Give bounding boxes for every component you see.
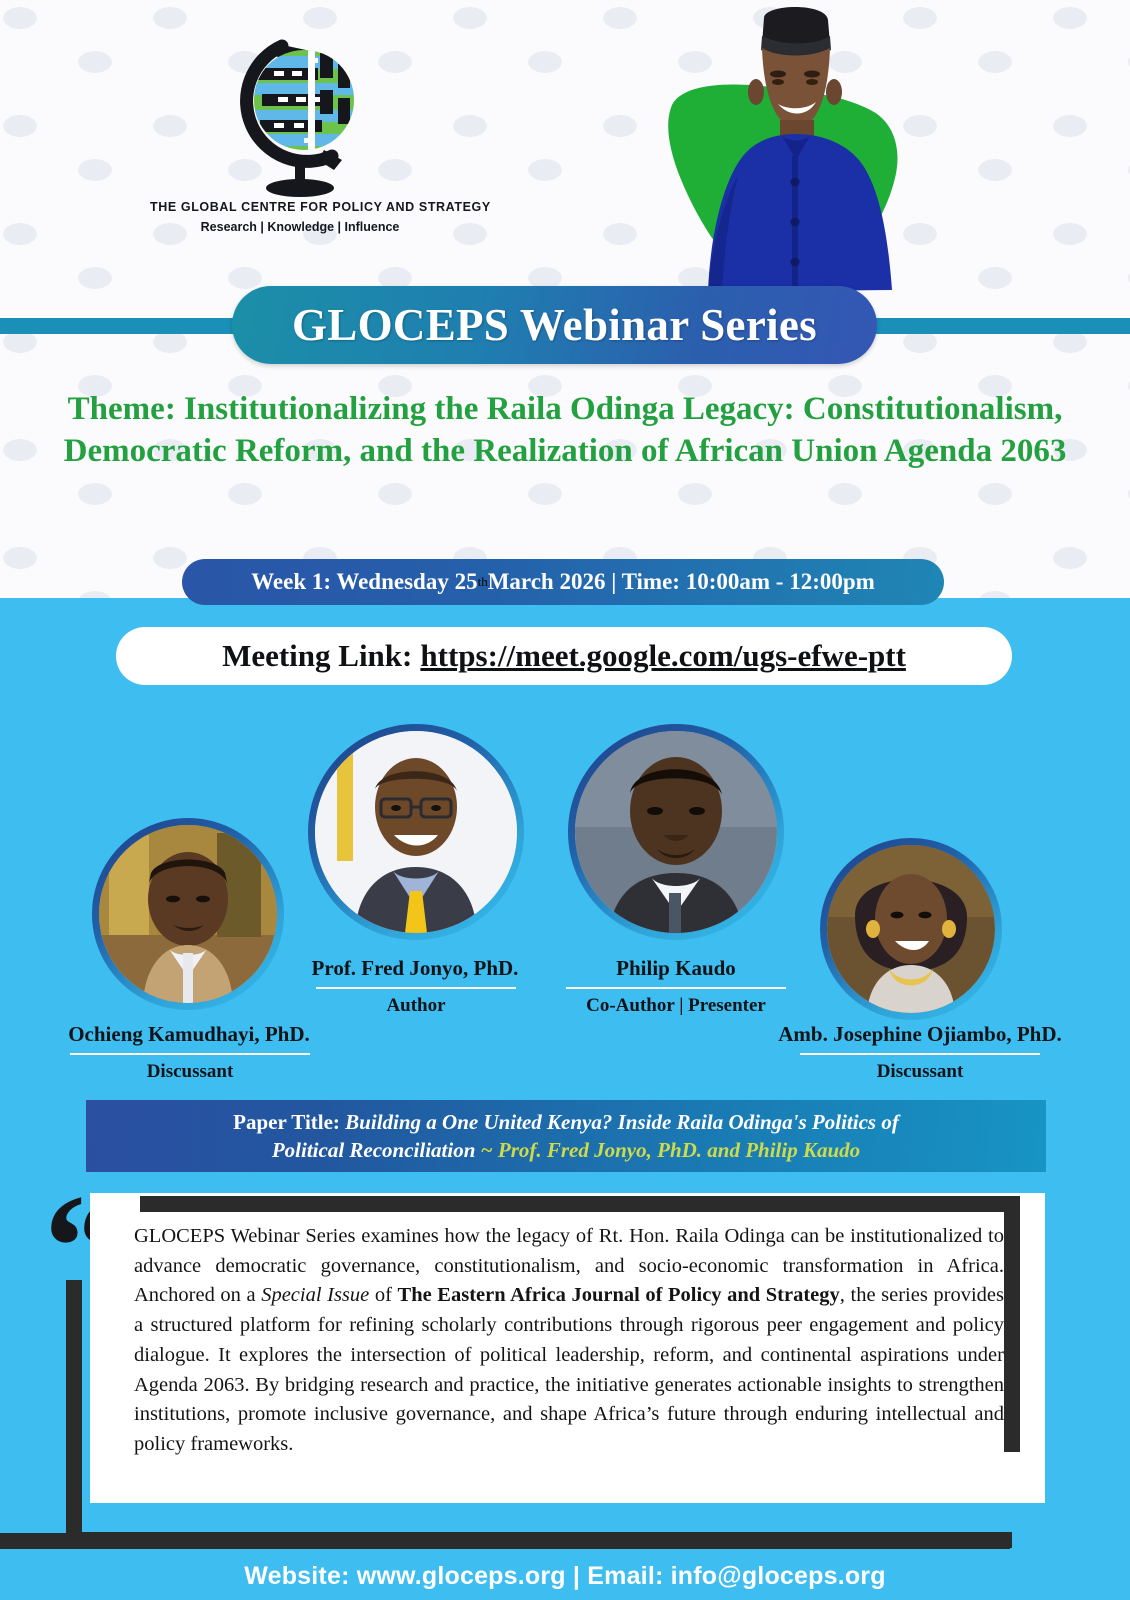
hero-image	[612, 0, 942, 330]
paper-title-line-1: Paper Title: Building a One United Kenya…	[233, 1108, 899, 1136]
speaker-portrait-raila-odinga	[612, 0, 942, 330]
paper-title-text-1: Building a One United Kenya? Inside Rail…	[345, 1110, 899, 1134]
speaker-name-2: Prof. Fred Jonyo, PhD.	[295, 956, 535, 981]
speaker-card-3	[568, 724, 784, 940]
paper-title-label: Paper Title:	[233, 1110, 340, 1134]
footer-contact-text: Website: www.gloceps.org | Email: info@g…	[244, 1562, 885, 1591]
avatar-3	[568, 724, 784, 940]
avatar-2	[308, 724, 524, 940]
meeting-link-card[interactable]: Meeting Link: https://meet.google.com/ug…	[116, 627, 1012, 685]
speaker-role-1: Discussant	[70, 1053, 310, 1083]
footer-bar: Website: www.gloceps.org | Email: info@g…	[0, 1552, 1130, 1600]
paper-title-text-2: Political Reconciliation	[272, 1138, 476, 1162]
avatar-4	[820, 838, 1002, 1020]
meeting-link-url[interactable]: https://meet.google.com/ugs-efwe-ptt	[420, 638, 906, 674]
paper-separator: ~	[481, 1138, 493, 1162]
series-title-banner: GLOCEPS Webinar Series	[232, 286, 877, 364]
footer-divider	[0, 1533, 1010, 1549]
schedule-prefix: Week 1: Wednesday 25	[251, 569, 477, 595]
speaker-name-3: Philip Kaudo	[576, 956, 776, 981]
organization-tagline: Research | Knowledge | Influence	[150, 220, 450, 234]
series-title-text: GLOCEPS Webinar Series	[292, 299, 817, 351]
paper-title-line-2: Political Reconciliation ~ Prof. Fred Jo…	[272, 1136, 860, 1164]
speaker-role-4: Discussant	[800, 1053, 1040, 1083]
schedule-suffix: March 2026 | Time: 10:00am - 12:00pm	[488, 569, 875, 595]
speaker-card-1	[92, 818, 284, 1010]
abstract-part-2: of	[369, 1284, 397, 1306]
paper-title-banner: Paper Title: Building a One United Kenya…	[86, 1100, 1046, 1172]
organization-name: THE GLOBAL CENTRE FOR POLICY AND STRATEG…	[150, 200, 450, 214]
theme-heading: Theme: Institutionalizing the Raila Odin…	[60, 388, 1070, 472]
paper-authors: Prof. Fred Jonyo, PhD. and Philip Kaudo	[498, 1138, 860, 1162]
schedule-ordinal: th	[478, 574, 488, 590]
organization-logo: THE GLOBAL CENTRE FOR POLICY AND STRATEG…	[150, 28, 450, 258]
speaker-role-3: Co-Author | Presenter	[566, 987, 786, 1017]
speaker-name-4: Amb. Josephine Ojiambo, PhD.	[750, 1022, 1090, 1047]
globe-icon	[220, 28, 380, 198]
webinar-poster: THE GLOBAL CENTRE FOR POLICY AND STRATEG…	[0, 0, 1130, 1600]
speaker-card-4	[820, 838, 1002, 1020]
abstract-italic-1: Special Issue	[261, 1284, 369, 1306]
meeting-link-label: Meeting Link:	[222, 638, 412, 674]
abstract-text: GLOCEPS Webinar Series examines how the …	[134, 1222, 1004, 1460]
speaker-card-2	[308, 724, 524, 940]
schedule-banner: Week 1: Wednesday 25th March 2026 | Time…	[182, 559, 944, 605]
speaker-name-1: Ochieng Kamudhayi, PhD.	[24, 1022, 354, 1047]
abstract-part-3: , the series provides a structured platf…	[134, 1284, 1004, 1455]
speaker-role-2: Author	[316, 987, 516, 1017]
avatar-1	[92, 818, 284, 1010]
abstract-bold-1: The Eastern Africa Journal of Policy and…	[398, 1284, 840, 1306]
